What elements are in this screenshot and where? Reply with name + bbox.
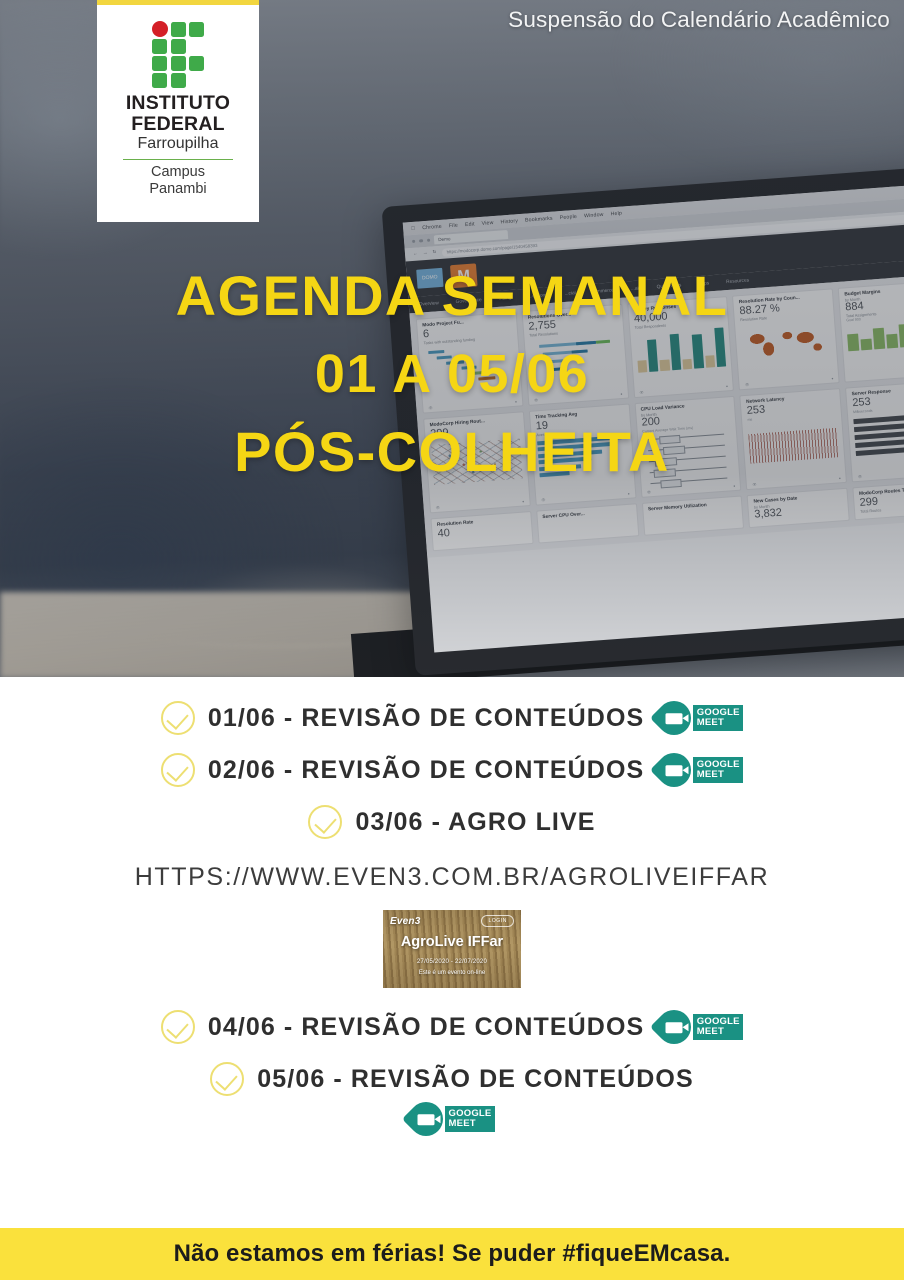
logo-unit-name: Farroupilha — [138, 135, 219, 153]
even3-event-dates: 27/05/2020 - 22/07/2020 — [383, 959, 521, 965]
hero-banner:  Chrome File Edit View History Bookmark… — [0, 0, 904, 677]
page-title-line3: PÓS-COLHEITA — [0, 424, 904, 480]
logo-campus-line2: Panambi — [149, 181, 206, 198]
meet-word-line2: MEET — [697, 717, 724, 728]
even3-event-card[interactable]: Even3 LOGIN AgroLive IFFar 27/05/2020 - … — [383, 910, 521, 988]
even3-logo: Even3 — [390, 916, 420, 927]
hero-top-label: Suspensão do Calendário Acadêmico — [508, 7, 890, 33]
footer-text: Não estamos em férias! Se puder #fiqueEM… — [174, 1240, 731, 1268]
agenda-item: 04/06 - REVISÃO DE CONTEÚDOS GOOGLE MEET — [0, 1010, 904, 1044]
logo-institute-line1: INSTITUTO — [126, 94, 230, 114]
agenda-item: 02/06 - REVISÃO DE CONTEÚDOS GOOGLE MEET — [0, 753, 904, 787]
institution-logo-card: INSTITUTO FEDERAL Farroupilha Campus Pan… — [97, 0, 259, 222]
meet-word-line2: MEET — [697, 1026, 724, 1037]
check-circle-icon — [308, 805, 342, 839]
agenda-item-label: 05/06 - REVISÃO DE CONTEÚDOS — [257, 1065, 693, 1094]
google-meet-wordmark: GOOGLE MEET — [693, 705, 743, 730]
agenda-list: 01/06 - REVISÃO DE CONTEÚDOS GOOGLE MEET… — [0, 677, 904, 1136]
if-logo-icon — [136, 19, 220, 85]
agenda-item-label: 01/06 - REVISÃO DE CONTEÚDOS — [208, 704, 644, 733]
logo-institute-line2: FEDERAL — [131, 114, 224, 134]
agenda-item-label: 02/06 - REVISÃO DE CONTEÚDOS — [208, 756, 644, 785]
meet-word-line2: MEET — [449, 1118, 476, 1129]
agenda-item: 01/06 - REVISÃO DE CONTEÚDOS GOOGLE MEET — [0, 701, 904, 735]
google-meet-badge[interactable]: GOOGLE MEET — [409, 1102, 495, 1136]
google-meet-wordmark: GOOGLE MEET — [445, 1106, 495, 1131]
google-meet-wordmark: GOOGLE MEET — [693, 1014, 743, 1039]
hero-title-block: AGENDA SEMANAL 01 A 05/06 PÓS-COLHEITA — [0, 268, 904, 480]
page-title-line1: AGENDA SEMANAL — [0, 268, 904, 324]
google-meet-badge[interactable]: GOOGLE MEET — [657, 701, 743, 735]
even3-card-header: Even3 LOGIN — [383, 910, 521, 927]
agenda-item-label: 04/06 - REVISÃO DE CONTEÚDOS — [208, 1013, 644, 1042]
logo-divider — [123, 159, 233, 160]
even3-card-wrapper: Even3 LOGIN AgroLive IFFar 27/05/2020 - … — [0, 910, 904, 988]
agenda-item: 05/06 - REVISÃO DE CONTEÚDOS — [0, 1062, 904, 1096]
google-meet-badge[interactable]: GOOGLE MEET — [657, 753, 743, 787]
video-camera-icon — [402, 1095, 450, 1143]
google-meet-badge-row: GOOGLE MEET — [0, 1102, 904, 1136]
even3-event-note: Este é um evento on-line — [383, 970, 521, 976]
check-circle-icon — [210, 1062, 244, 1096]
login-button[interactable]: LOGIN — [481, 915, 514, 927]
video-camera-icon — [650, 1003, 698, 1051]
check-circle-icon — [161, 1010, 195, 1044]
google-meet-badge[interactable]: GOOGLE MEET — [657, 1010, 743, 1044]
page-title-line2: 01 A 05/06 — [0, 347, 904, 401]
video-camera-icon — [650, 694, 698, 742]
event-link[interactable]: HTTPS://WWW.EVEN3.COM.BR/AGROLIVEIFFAR — [0, 863, 904, 892]
meet-word-line2: MEET — [697, 769, 724, 780]
agenda-item-label: 03/06 - AGRO LIVE — [355, 808, 595, 837]
check-circle-icon — [161, 701, 195, 735]
logo-campus-line1: Campus — [151, 164, 205, 181]
even3-event-title: AgroLive IFFar — [383, 934, 521, 950]
check-circle-icon — [161, 753, 195, 787]
google-meet-wordmark: GOOGLE MEET — [693, 757, 743, 782]
video-camera-icon — [650, 746, 698, 794]
footer-banner: Não estamos em férias! Se puder #fiqueEM… — [0, 1228, 904, 1280]
agenda-item: 03/06 - AGRO LIVE — [0, 805, 904, 839]
